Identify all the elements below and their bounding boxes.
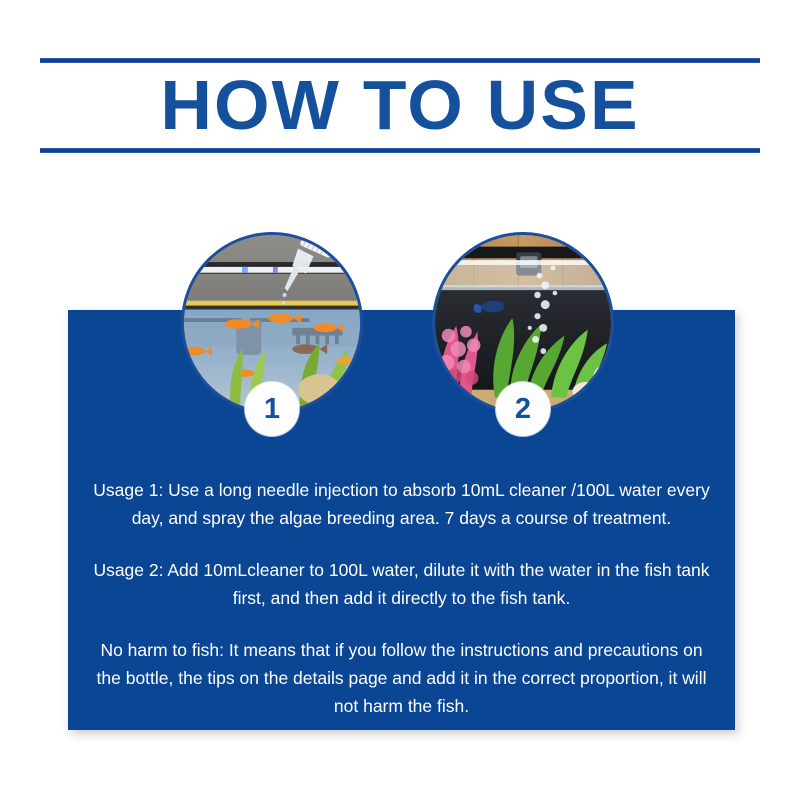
page-title: HOW TO USE (0, 66, 800, 144)
instruction-no-harm: No harm to fish: It means that if you fo… (88, 636, 715, 720)
how-to-use-infographic: HOW TO USE (0, 0, 800, 800)
step-2: 2 (432, 232, 614, 414)
step-badge-1: 1 (245, 382, 299, 436)
header-divider-bottom (40, 148, 760, 153)
header-divider-top (40, 58, 760, 63)
instruction-usage-1: Usage 1: Use a long needle injection to … (88, 476, 715, 532)
instruction-usage-2: Usage 2: Add 10mLcleaner to 100L water, … (88, 556, 715, 612)
step-1: 1 (181, 232, 363, 414)
instructions-block: Usage 1: Use a long needle injection to … (88, 476, 715, 720)
step-badge-2: 2 (496, 382, 550, 436)
